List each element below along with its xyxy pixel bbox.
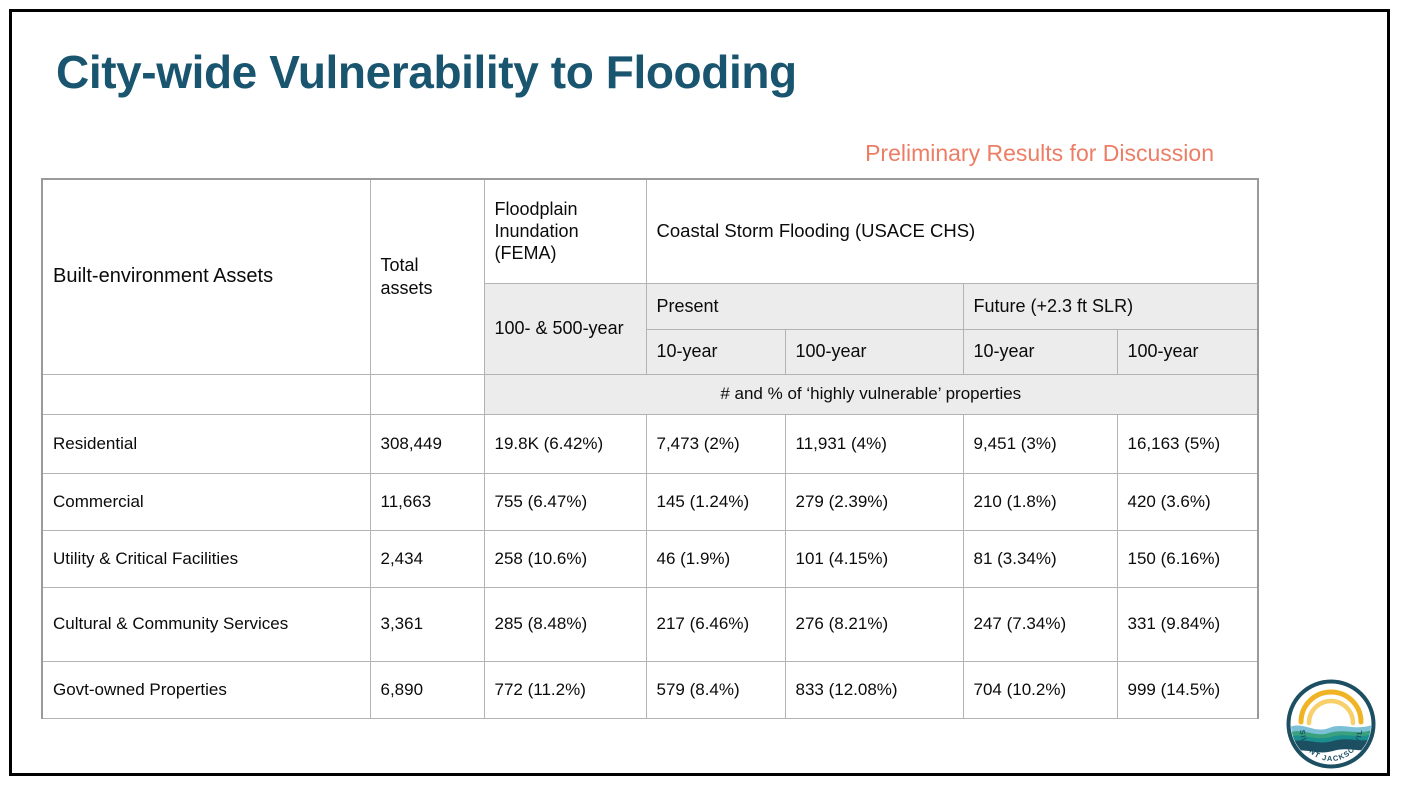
- table-legend-row: # and % of ‘highly vulnerable’ propertie…: [42, 374, 1258, 414]
- header-future-10-year: 10-year: [963, 329, 1117, 374]
- header-present-100-year: 100-year: [785, 329, 963, 374]
- cell-future-100-year: 150 (6.16%): [1117, 530, 1258, 587]
- cell-asset-name: Cultural & Community Services: [42, 587, 370, 661]
- cell-future-100-year: 16,163 (5%): [1117, 414, 1258, 473]
- header-built-environment-assets: Built-environment Assets: [42, 179, 370, 374]
- logo-art: [1287, 692, 1375, 753]
- cell-future-100-year: 331 (9.84%): [1117, 587, 1258, 661]
- legend-highly-vulnerable: # and % of ‘highly vulnerable’ propertie…: [484, 374, 1258, 414]
- cell-fema: 285 (8.48%): [484, 587, 646, 661]
- cell-present-10-year: 579 (8.4%): [646, 661, 785, 718]
- cell-asset-name: Commercial: [42, 473, 370, 530]
- cell-total-assets: 11,663: [370, 473, 484, 530]
- vulnerability-table: Built-environment Assets Total assets Fl…: [41, 178, 1259, 719]
- cell-present-10-year: 46 (1.9%): [646, 530, 785, 587]
- slide-frame: City-wide Vulnerability to Flooding Prel…: [9, 9, 1390, 776]
- cell-total-assets: 308,449: [370, 414, 484, 473]
- cell-asset-name: Govt-owned Properties: [42, 661, 370, 718]
- table-header-row-1: Built-environment Assets Total assets Fl…: [42, 179, 1258, 283]
- table-row: Cultural & Community Services 3,361 285 …: [42, 587, 1258, 661]
- cell-future-10-year: 247 (7.34%): [963, 587, 1117, 661]
- cell-asset-name: Residential: [42, 414, 370, 473]
- cell-fema: 19.8K (6.42%): [484, 414, 646, 473]
- cell-total-assets: 6,890: [370, 661, 484, 718]
- logo-icon: RESILIENT JACKSONVILLE: [1283, 676, 1379, 772]
- header-floodplain-inundation-fema: Floodplain Inundation (FEMA): [484, 179, 646, 283]
- sun-arc-inner: [1309, 701, 1353, 723]
- cell-future-10-year: 9,451 (3%): [963, 414, 1117, 473]
- legend-spacer-asset: [42, 374, 370, 414]
- page-title: City-wide Vulnerability to Flooding: [56, 45, 797, 99]
- header-fema-100-500-year: 100- & 500-year: [484, 283, 646, 374]
- cell-present-100-year: 279 (2.39%): [785, 473, 963, 530]
- cell-present-100-year: 276 (8.21%): [785, 587, 963, 661]
- cell-fema: 772 (11.2%): [484, 661, 646, 718]
- header-present-10-year: 10-year: [646, 329, 785, 374]
- cell-present-100-year: 101 (4.15%): [785, 530, 963, 587]
- table-row: Commercial 11,663 755 (6.47%) 145 (1.24%…: [42, 473, 1258, 530]
- cell-future-10-year: 210 (1.8%): [963, 473, 1117, 530]
- slide-canvas: City-wide Vulnerability to Flooding Prel…: [12, 12, 1387, 773]
- header-coastal-storm-flooding: Coastal Storm Flooding (USACE CHS): [646, 179, 1258, 283]
- header-future-slr: Future (+2.3 ft SLR): [963, 283, 1258, 329]
- header-future-100-year: 100-year: [1117, 329, 1258, 374]
- resilient-jacksonville-logo: RESILIENT JACKSONVILLE: [1283, 676, 1379, 772]
- header-total-assets: Total assets: [370, 179, 484, 374]
- cell-present-10-year: 7,473 (2%): [646, 414, 785, 473]
- cell-asset-name: Utility & Critical Facilities: [42, 530, 370, 587]
- cell-future-10-year: 81 (3.34%): [963, 530, 1117, 587]
- cell-present-10-year: 145 (1.24%): [646, 473, 785, 530]
- table-row: Residential 308,449 19.8K (6.42%) 7,473 …: [42, 414, 1258, 473]
- cell-total-assets: 3,361: [370, 587, 484, 661]
- table-row: Utility & Critical Facilities 2,434 258 …: [42, 530, 1258, 587]
- cell-future-100-year: 999 (14.5%): [1117, 661, 1258, 718]
- cell-fema: 755 (6.47%): [484, 473, 646, 530]
- table-row: Govt-owned Properties 6,890 772 (11.2%) …: [42, 661, 1258, 718]
- legend-spacer-total: [370, 374, 484, 414]
- cell-future-10-year: 704 (10.2%): [963, 661, 1117, 718]
- preliminary-results-note: Preliminary Results for Discussion: [12, 140, 1378, 167]
- header-present: Present: [646, 283, 963, 329]
- cell-future-100-year: 420 (3.6%): [1117, 473, 1258, 530]
- cell-fema: 258 (10.6%): [484, 530, 646, 587]
- cell-present-100-year: 11,931 (4%): [785, 414, 963, 473]
- cell-present-100-year: 833 (12.08%): [785, 661, 963, 718]
- cell-total-assets: 2,434: [370, 530, 484, 587]
- cell-present-10-year: 217 (6.46%): [646, 587, 785, 661]
